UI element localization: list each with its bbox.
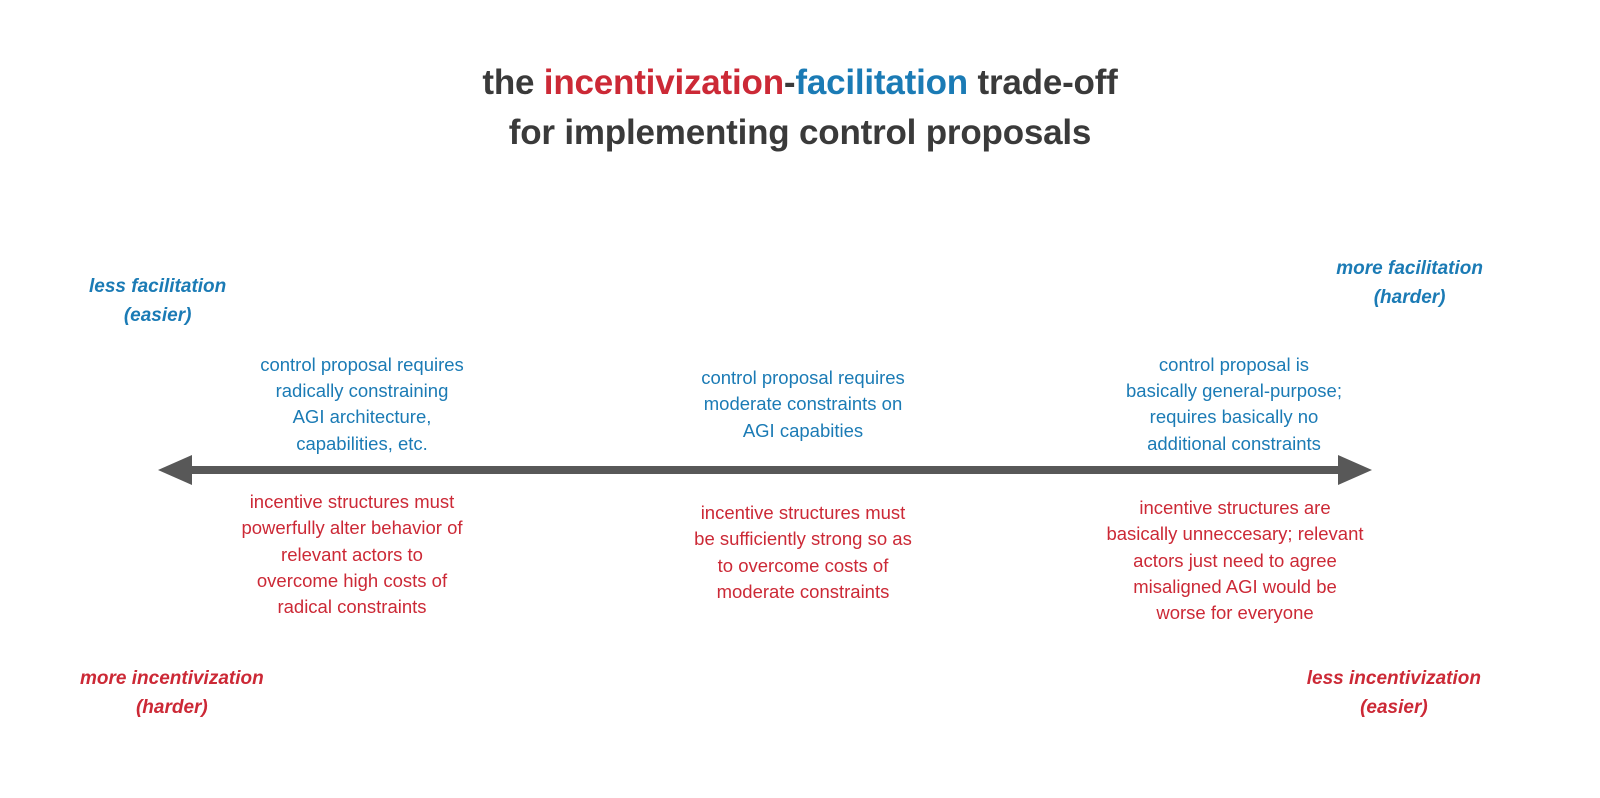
note-line: powerfully alter behavior of xyxy=(212,515,492,541)
incentivization-note-left: incentive structures must powerfully alt… xyxy=(212,489,492,620)
axis-label-more-facilitation-line2: (harder) xyxy=(1336,284,1483,313)
facilitation-note-center: control proposal requires moderate const… xyxy=(663,365,943,444)
axis-label-less-incentivization: less incentivization (easier) xyxy=(1307,665,1481,722)
note-line: capabilities, etc. xyxy=(222,431,502,457)
title-line-1: the incentivization-facilitation trade-o… xyxy=(0,58,1600,108)
axis-label-less-incentivization-line1: less incentivization xyxy=(1307,665,1481,694)
note-line: incentive structures are xyxy=(1070,495,1400,521)
axis-label-more-incentivization-line2: (harder) xyxy=(80,694,264,723)
note-line: basically unneccesary; relevant xyxy=(1070,521,1400,547)
axis-label-less-facilitation-line1: less facilitation xyxy=(89,273,226,302)
note-line: AGI capabities xyxy=(663,418,943,444)
axis-label-more-incentivization: more incentivization (harder) xyxy=(80,665,264,722)
incentivization-note-center: incentive structures must be sufficientl… xyxy=(663,500,943,605)
axis-label-less-incentivization-line2: (easier) xyxy=(1307,694,1481,723)
note-line: incentive structures must xyxy=(212,489,492,515)
axis-label-less-facilitation: less facilitation (easier) xyxy=(89,273,226,330)
title-word-tradeoff: trade-off xyxy=(968,63,1118,102)
page-title: the incentivization-facilitation trade-o… xyxy=(0,58,1600,157)
note-line: AGI architecture, xyxy=(222,404,502,430)
title-word-incentivization: incentivization xyxy=(544,63,784,102)
note-line: actors just need to agree xyxy=(1070,548,1400,574)
note-line: relevant actors to xyxy=(212,542,492,568)
axis-label-more-incentivization-line1: more incentivization xyxy=(80,665,264,694)
note-line: requires basically no xyxy=(1094,404,1374,430)
note-line: control proposal requires xyxy=(222,352,502,378)
note-line: misaligned AGI would be xyxy=(1070,574,1400,600)
title-hyphen: - xyxy=(784,63,795,102)
title-word-the: the xyxy=(482,63,543,102)
note-line: overcome high costs of xyxy=(212,568,492,594)
note-line: additional constraints xyxy=(1094,431,1374,457)
axis-label-more-facilitation-line1: more facilitation xyxy=(1336,255,1483,284)
incentivization-note-right: incentive structures are basically unnec… xyxy=(1070,495,1400,626)
note-line: control proposal requires xyxy=(663,365,943,391)
note-line: incentive structures must xyxy=(663,500,943,526)
note-line: basically general-purpose; xyxy=(1094,378,1374,404)
note-line: worse for everyone xyxy=(1070,600,1400,626)
facilitation-note-left: control proposal requires radically cons… xyxy=(222,352,502,457)
note-line: moderate constraints xyxy=(663,579,943,605)
facilitation-note-right: control proposal is basically general-pu… xyxy=(1094,352,1374,457)
axis-label-more-facilitation: more facilitation (harder) xyxy=(1336,255,1483,312)
title-line-2: for implementing control proposals xyxy=(0,108,1600,158)
note-line: be sufficiently strong so as xyxy=(663,526,943,552)
note-line: moderate constraints on xyxy=(663,391,943,417)
title-word-facilitation: facilitation xyxy=(795,63,968,102)
note-line: radical constraints xyxy=(212,594,492,620)
note-line: to overcome costs of xyxy=(663,553,943,579)
spectrum-double-arrow-icon xyxy=(158,452,1372,488)
axis-label-less-facilitation-line2: (easier) xyxy=(89,302,226,331)
note-line: radically constraining xyxy=(222,378,502,404)
note-line: control proposal is xyxy=(1094,352,1374,378)
